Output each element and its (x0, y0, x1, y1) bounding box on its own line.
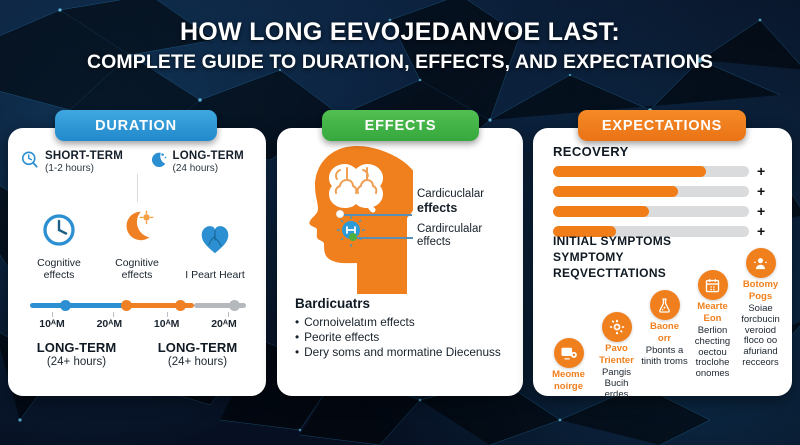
expectation-item-2[interactable]: Pavo Trienter Pangis Bucih erdes (593, 312, 640, 400)
duration-icon-label-2: Cognitive effects (100, 258, 174, 282)
expectation-desc-3: Pbonts a tinith troms (641, 346, 688, 368)
duration-top-row: SHORT-TERM (1-2 hours) LONG-TERM (24 hou… (8, 150, 266, 175)
duration-timeline (30, 300, 246, 310)
duration-icon-cognitive-clock: Cognitive effects (22, 210, 96, 282)
timeline-tick-label: 20ᴬM (198, 318, 250, 330)
expectation-item-4[interactable]: Mearte Eon Berlion checting oectou trocl… (689, 270, 736, 380)
progress-bar-row: + (553, 164, 775, 178)
expectation-title-1b: noirge (545, 382, 592, 392)
panel-header-duration[interactable]: DURATION (55, 110, 217, 141)
timeline-dot-4[interactable] (229, 300, 240, 311)
duration-bottom-head-2: LONG-TERM (137, 340, 258, 355)
timeline-tick (113, 312, 114, 317)
expectation-item-5[interactable]: Botomy Pogs Soiae forcbucin veroiod floc… (737, 248, 784, 369)
callout-dot-1 (336, 210, 344, 218)
timeline-tick (52, 312, 53, 317)
list-item-text: Cornoivelatım effects (304, 315, 510, 330)
duration-icon-row: Cognitive effects Cognitive effects (22, 206, 252, 282)
panel-duration: SHORT-TERM (1-2 hours) LONG-TERM (24 hou… (8, 128, 266, 396)
infographic-root: HOW LONG EEVOJEDANVOE LAST: COMPLETE GUI… (0, 0, 800, 445)
expectation-item-1[interactable]: Meome noirge (545, 338, 592, 393)
progress-track[interactable] (553, 166, 749, 177)
list-item-text: Dery soms and mormatine Diecenuss (304, 345, 510, 360)
list-item: • Dery soms and mormatine Diecenuss (295, 345, 510, 360)
recovery-heading: RECOVERY (553, 144, 629, 159)
expectation-title-4b: Eon (689, 314, 736, 324)
timeline-tick (228, 312, 229, 317)
calendar-icon (698, 270, 728, 300)
panel-header-expectations[interactable]: EXPECTATIONS (578, 110, 746, 141)
short-term-label: SHORT-TERM (45, 150, 123, 162)
effects-list-heading: Bardicuatrs (295, 296, 510, 311)
progress-track[interactable] (553, 186, 749, 197)
duration-bottom-item-2: LONG-TERM (24+ hours) (137, 340, 258, 368)
expectation-desc-2: Pangis Bucih erdes (593, 368, 640, 400)
callout-2-line1: Cardirculalar (417, 223, 482, 235)
panel-effects: Cardicuclalar effects Cardirculalar effe… (277, 128, 523, 396)
long-term-label: LONG-TERM (173, 150, 244, 162)
expectation-item-3[interactable]: Baone orr Pbonts a tinith troms (641, 290, 688, 368)
duration-bottom-sub-1: (24+ hours) (16, 356, 137, 368)
duration-icon-heart: I Peart Heart (178, 220, 252, 282)
moon-sun-icon (118, 206, 156, 249)
bullet-icon: • (295, 315, 299, 330)
list-item-text: Peorite effects (304, 330, 510, 345)
timeline-tick-label: 10ᴬM (26, 318, 78, 330)
monitor-gear-icon (554, 338, 584, 368)
title-subtitle: COMPLETE GUIDE TO DURATION, EFFECTS, AND… (0, 51, 800, 73)
expectation-title-1: Meome (545, 370, 592, 380)
plus-icon: + (757, 164, 765, 178)
timeline-tick (167, 312, 168, 317)
callout-1: Cardicuclalar effects (417, 188, 517, 216)
expectations-icon-row: Meome noirge Pavo Trienter Pangis Bucih … (541, 276, 789, 394)
expectation-title-2: Pavo (593, 344, 640, 354)
duration-bottom-item-1: LONG-TERM (24+ hours) (16, 340, 137, 368)
duration-bottom-head-1: LONG-TERM (16, 340, 137, 355)
short-term-duration: (1-2 hours) (45, 163, 123, 174)
callout-leader-line-2 (357, 237, 413, 239)
callout-2-line2: effects (417, 236, 451, 248)
timeline-dot-3[interactable] (175, 300, 186, 311)
duration-bottom-row: LONG-TERM (24+ hours) LONG-TERM (24+ hou… (16, 340, 258, 368)
effects-list: Bardicuatrs • Cornoivelatım effects • Pe… (295, 296, 510, 360)
plus-icon: + (757, 184, 765, 198)
duration-short-term-item: SHORT-TERM (1-2 hours) (8, 150, 139, 175)
timeline-tick-label: 10ᴬM (141, 318, 193, 330)
page-title: HOW LONG EEVOJEDANVOE LAST: COMPLETE GUI… (0, 18, 800, 73)
moon-stars-icon (148, 150, 168, 175)
head-brain-icon (295, 142, 413, 294)
subheading-2: SYMPTOMY (553, 250, 671, 266)
expectation-title-3b: orr (641, 334, 688, 344)
list-item: • Peorite effects (295, 330, 510, 345)
panel-header-effects[interactable]: EFFECTS (322, 110, 479, 141)
timeline-dot-2[interactable] (121, 300, 132, 311)
long-term-duration: (24 hours) (173, 163, 244, 174)
duration-icon-cognitive-moon: Cognitive effects (100, 206, 174, 282)
progress-track[interactable] (553, 206, 749, 217)
timeline-tick-labels: 10ᴬM 20ᴬM 10ᴬM 20ᴬM (26, 318, 250, 330)
duration-long-term-item: LONG-TERM (24 hours) (139, 150, 267, 175)
title-main: HOW LONG EEVOJEDANVOE LAST: (0, 18, 800, 46)
callout-leader-line-1 (344, 214, 412, 216)
effects-callouts: Cardicuclalar effects Cardirculalar effe… (417, 188, 517, 256)
bullet-icon: • (295, 330, 299, 345)
expectation-title-4: Mearte (689, 302, 736, 312)
progress-fill (553, 186, 678, 197)
progress-bar-row: + (553, 184, 775, 198)
timeline-tick-label: 20ᴬM (83, 318, 135, 330)
recovery-bars: + + + + (553, 164, 775, 244)
bullet-icon: • (295, 345, 299, 360)
expectation-title-2b: Trienter (593, 356, 640, 366)
subheading-1: INITIAL SYMPTOMS (553, 234, 671, 250)
expectation-title-5b: Pogs (737, 292, 784, 302)
flask-icon (650, 290, 680, 320)
heart-icon (196, 220, 234, 263)
clock-search-icon (20, 150, 40, 175)
gear-sun-icon (602, 312, 632, 342)
callout-1-line1: Cardicuclalar (417, 188, 484, 200)
person-badge-icon (746, 248, 776, 278)
clock-icon (39, 210, 79, 255)
duration-icon-label-1: Cognitive effects (22, 258, 96, 282)
expectation-title-3: Baone (641, 322, 688, 332)
callout-2: Cardirculalar effects (417, 223, 517, 250)
panel-expectations: RECOVERY + + + (533, 128, 792, 396)
progress-fill (553, 206, 649, 217)
plus-icon: + (757, 204, 765, 218)
expectation-desc-4: Berlion checting oectou troclohe onomes (689, 326, 736, 380)
timeline-segment-1 (30, 303, 125, 308)
progress-fill (553, 166, 706, 177)
duration-icon-label-3: I Peart Heart (185, 270, 245, 282)
list-item: • Cornoivelatım effects (295, 315, 510, 330)
timeline-dot-1[interactable] (60, 300, 71, 311)
expectation-title-5: Botomy (737, 280, 784, 290)
duration-bottom-sub-2: (24+ hours) (137, 356, 258, 368)
progress-bar-row: + (553, 204, 775, 218)
expectation-desc-5: Soiae forcbucin veroiod floco oo afurian… (737, 304, 784, 369)
callout-1-line2: effects (417, 201, 484, 216)
expectations-subheadings: INITIAL SYMPTOMS SYMPTOMY REQVECTTATIONS (553, 234, 671, 281)
callout-dot-2 (349, 233, 357, 241)
plus-icon: + (757, 224, 765, 238)
divider (137, 174, 138, 202)
